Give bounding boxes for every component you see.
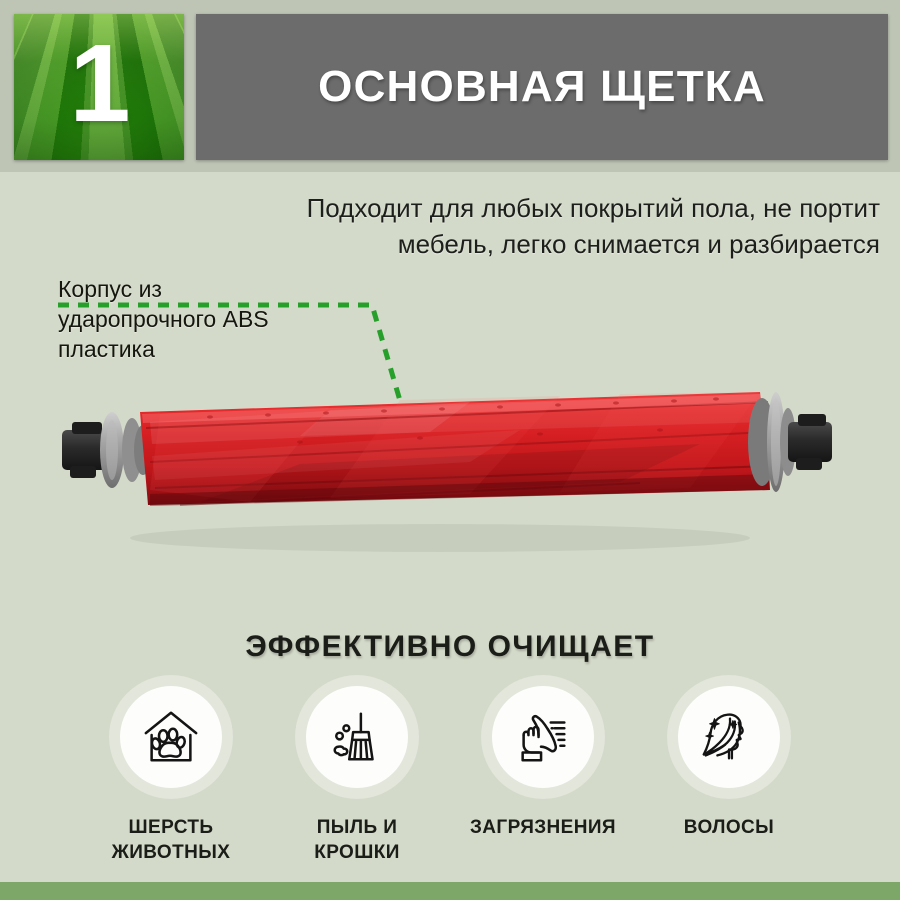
feature-icon-circle: [120, 686, 222, 788]
feature-label: ПЫЛЬ И КРОШКИ: [314, 815, 400, 865]
callout-line-3: пластика: [58, 334, 378, 364]
subtitle-line-1: Подходит для любых покрытий пола, не пор…: [180, 190, 880, 226]
product-shadow: [130, 524, 750, 552]
feature-label: ЗАГРЯЗНЕНИЯ: [470, 815, 616, 840]
product-image-roller-brush: [0, 370, 900, 570]
feature-label: ВОЛОСЫ: [684, 815, 774, 840]
subtitle-line-2: мебель, легко снимается и разбирается: [180, 226, 880, 262]
broom-dust-icon: [326, 706, 388, 768]
feature-icon-circle: [492, 686, 594, 788]
feature-item-pet-hair[interactable]: ШЕРСТЬ ЖИВОТНЫХ: [78, 686, 264, 865]
brush-body: [140, 392, 770, 506]
hair-sparkle-icon: [698, 706, 760, 768]
callout-line-1: Корпус из: [58, 274, 378, 304]
bottom-accent-bar: [0, 882, 900, 900]
feature-icon-circle: [678, 686, 780, 788]
section-heading: ЭФФЕКТИВНО ОЧИЩАЕТ: [0, 630, 900, 664]
feature-icon-circle: [306, 686, 408, 788]
gloved-hand-wiping-icon: [512, 706, 574, 768]
callout-line-2: ударопрочного ABS: [58, 304, 378, 334]
badge-number: 1: [14, 32, 184, 136]
callout-text: Корпус из ударопрочного ABS пластика: [58, 274, 378, 364]
page-title: ОСНОВНАЯ ЩЕТКА: [318, 62, 766, 112]
right-connector: [788, 414, 832, 470]
feature-list: ШЕРСТЬ ЖИВОТНЫХ ПЫЛЬ И КРОШКИ: [78, 686, 822, 865]
feature-item-dust-crumbs[interactable]: ПЫЛЬ И КРОШКИ: [264, 686, 450, 865]
step-number-badge: 1: [14, 14, 184, 160]
header-bar: ОСНОВНАЯ ЩЕТКА: [196, 14, 888, 160]
infographic-page: 1 ОСНОВНАЯ ЩЕТКА Подходит для любых покр…: [0, 0, 900, 900]
pet-house-paw-icon: [140, 706, 202, 768]
feature-label: ШЕРСТЬ ЖИВОТНЫХ: [112, 815, 231, 865]
feature-item-hair[interactable]: ВОЛОСЫ: [636, 686, 822, 840]
feature-item-dirt[interactable]: ЗАГРЯЗНЕНИЯ: [450, 686, 636, 840]
subtitle: Подходит для любых покрытий пола, не пор…: [180, 190, 880, 262]
